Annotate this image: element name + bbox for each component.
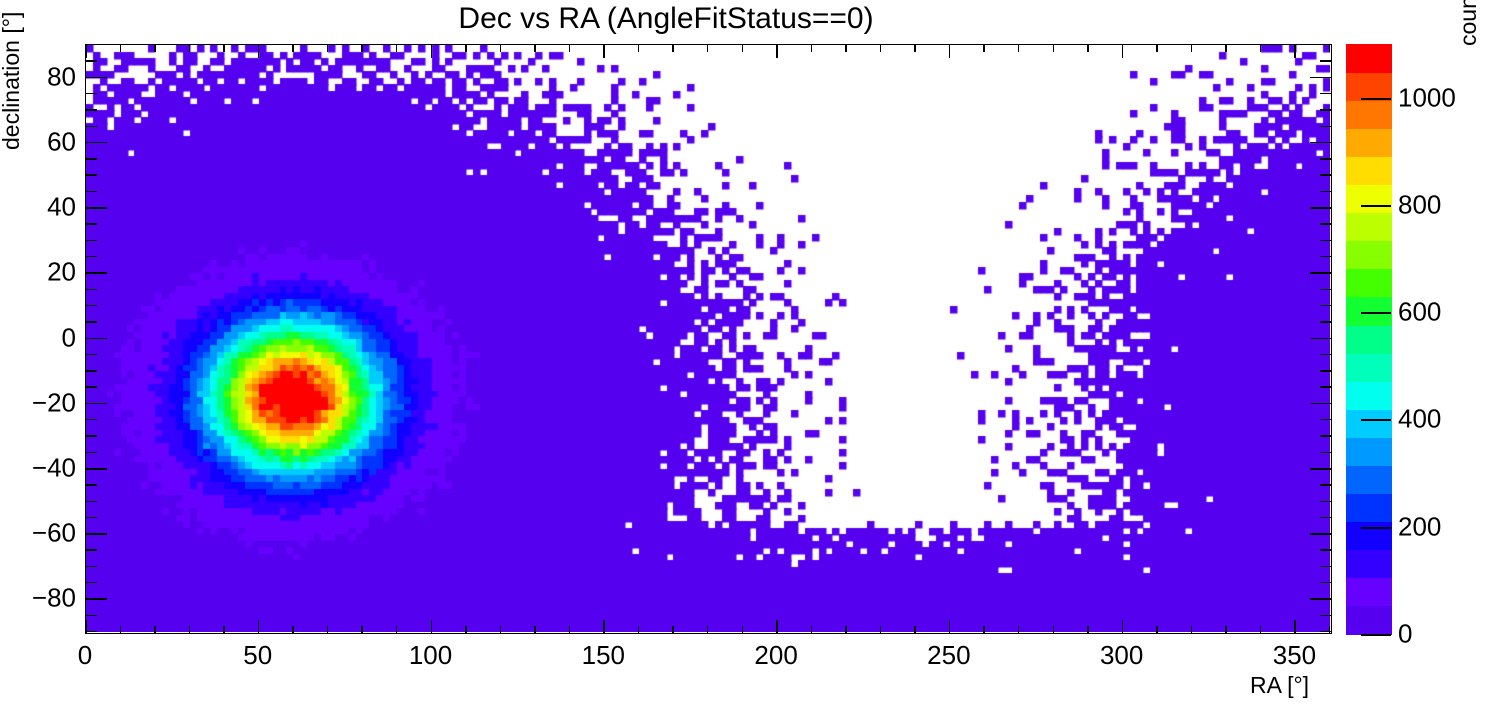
y-tick-major — [85, 77, 107, 79]
color-bar-title: count — [1455, 0, 1482, 46]
y-tick-label: 20 — [14, 257, 76, 288]
y-tick-minor — [1320, 126, 1332, 127]
color-bar-band — [1346, 213, 1392, 242]
x-tick-label: 150 — [582, 640, 625, 671]
y-tick-minor — [1320, 549, 1332, 550]
x-axis-title: RA [°] — [1250, 672, 1309, 699]
color-bar-band — [1346, 100, 1392, 129]
x-tick-minor — [500, 44, 501, 52]
y-tick-minor — [1320, 109, 1332, 110]
x-tick-minor — [189, 44, 190, 52]
color-bar-tick-label: 800 — [1398, 189, 1441, 220]
x-tick-minor — [1156, 626, 1157, 634]
x-tick-minor — [396, 44, 397, 52]
y-tick-minor — [1320, 631, 1332, 632]
y-tick-label: 60 — [14, 126, 76, 157]
x-tick-major — [1122, 620, 1124, 634]
x-tick-minor — [983, 626, 984, 634]
y-tick-major — [85, 338, 107, 340]
y-tick-minor — [85, 549, 97, 550]
y-tick-major — [1310, 598, 1332, 600]
y-tick-major — [1310, 338, 1332, 340]
y-tick-minor — [1320, 615, 1332, 616]
color-bar-band — [1346, 72, 1392, 101]
y-tick-minor — [85, 321, 97, 322]
y-tick-minor — [1320, 93, 1332, 94]
x-tick-minor — [1225, 44, 1226, 52]
x-tick-minor — [1018, 626, 1019, 634]
x-tick-minor — [707, 626, 708, 634]
color-bar-tick — [1361, 98, 1391, 100]
x-tick-minor — [1053, 44, 1054, 52]
x-tick-minor — [845, 626, 846, 634]
y-tick-major — [1310, 468, 1332, 470]
x-tick-minor — [189, 626, 190, 634]
x-tick-minor — [1087, 626, 1088, 634]
y-tick-minor — [85, 386, 97, 387]
page-title: Dec vs RA (AngleFitStatus==0) — [0, 2, 1332, 36]
root-canvas: Dec vs RA (AngleFitStatus==0) declinatio… — [0, 0, 1496, 722]
y-tick-minor — [85, 631, 97, 632]
y-tick-minor — [85, 435, 97, 436]
y-tick-minor — [85, 566, 97, 567]
y-tick-label: 0 — [14, 322, 76, 353]
x-tick-minor — [327, 44, 328, 52]
y-tick-minor — [85, 109, 97, 110]
x-tick-major — [776, 44, 778, 58]
color-bar-tick — [1361, 312, 1391, 314]
x-tick-minor — [500, 626, 501, 634]
x-tick-minor — [1156, 44, 1157, 52]
y-tick-label: −40 — [14, 452, 76, 483]
x-tick-major — [949, 44, 951, 58]
color-bar-tick-label: 400 — [1398, 404, 1441, 435]
x-tick-minor — [914, 44, 915, 52]
x-tick-label: 200 — [754, 640, 797, 671]
y-tick-minor — [85, 501, 97, 502]
x-tick-major — [431, 620, 433, 634]
x-tick-minor — [465, 626, 466, 634]
x-tick-minor — [707, 44, 708, 52]
y-tick-label: −20 — [14, 387, 76, 418]
x-tick-major — [776, 620, 778, 634]
x-tick-minor — [983, 44, 984, 52]
y-tick-label: −80 — [14, 583, 76, 614]
x-tick-major — [258, 44, 260, 58]
y-tick-minor — [1320, 582, 1332, 583]
y-tick-minor — [1320, 517, 1332, 518]
x-tick-minor — [672, 44, 673, 52]
color-bar-tick-label: 200 — [1398, 511, 1441, 542]
y-tick-minor — [1320, 354, 1332, 355]
color-bar-band — [1346, 184, 1392, 213]
color-bar-band — [1346, 550, 1392, 579]
x-tick-major — [603, 620, 605, 634]
x-tick-label: 100 — [409, 640, 452, 671]
y-tick-minor — [85, 305, 97, 306]
x-tick-minor — [1260, 626, 1261, 634]
color-bar-band — [1346, 269, 1392, 298]
x-tick-major — [85, 44, 87, 58]
x-tick-minor — [914, 626, 915, 634]
y-tick-minor — [1320, 566, 1332, 567]
x-tick-minor — [154, 626, 155, 634]
x-tick-minor — [1225, 626, 1226, 634]
y-tick-minor — [1320, 386, 1332, 387]
plot-frame — [85, 44, 1332, 634]
x-tick-label: 250 — [927, 640, 970, 671]
y-tick-minor — [1320, 484, 1332, 485]
x-tick-minor — [223, 44, 224, 52]
x-tick-label: 0 — [78, 640, 92, 671]
y-tick-major — [85, 142, 107, 144]
y-tick-major — [1310, 403, 1332, 405]
x-tick-minor — [292, 44, 293, 52]
x-tick-minor — [396, 626, 397, 634]
x-tick-minor — [361, 626, 362, 634]
y-tick-minor — [85, 517, 97, 518]
x-tick-label: 300 — [1100, 640, 1143, 671]
y-tick-minor — [1320, 60, 1332, 61]
x-tick-minor — [223, 626, 224, 634]
x-tick-minor — [811, 44, 812, 52]
x-tick-major — [431, 44, 433, 58]
y-tick-minor — [1320, 289, 1332, 290]
color-bar-tick — [1361, 419, 1391, 421]
y-tick-minor — [1320, 321, 1332, 322]
y-tick-minor — [85, 615, 97, 616]
color-bar-tick-label: 600 — [1398, 297, 1441, 328]
y-tick-minor — [1320, 158, 1332, 159]
x-tick-minor — [880, 44, 881, 52]
color-bar-gradient — [1346, 44, 1392, 634]
color-bar-band — [1346, 44, 1392, 73]
x-tick-minor — [742, 626, 743, 634]
y-tick-minor — [1320, 419, 1332, 420]
y-tick-major — [85, 533, 107, 535]
color-bar-band — [1346, 606, 1392, 635]
x-tick-minor — [120, 44, 121, 52]
x-tick-major — [949, 620, 951, 634]
y-tick-minor — [85, 93, 97, 94]
x-tick-minor — [1329, 626, 1330, 634]
y-tick-minor — [85, 60, 97, 61]
y-tick-minor — [85, 174, 97, 175]
y-tick-minor — [1320, 452, 1332, 453]
y-tick-major — [85, 272, 107, 274]
y-tick-major — [1310, 142, 1332, 144]
y-tick-minor — [85, 354, 97, 355]
x-tick-minor — [569, 626, 570, 634]
color-bar-tick-label: 1000 — [1398, 82, 1456, 113]
y-tick-major — [1310, 272, 1332, 274]
y-tick-minor — [85, 223, 97, 224]
x-tick-major — [1294, 44, 1296, 58]
color-bar-band — [1346, 381, 1392, 410]
x-tick-minor — [1191, 626, 1192, 634]
x-tick-minor — [534, 44, 535, 52]
y-tick-minor — [1320, 223, 1332, 224]
y-tick-minor — [85, 289, 97, 290]
x-tick-major — [258, 620, 260, 634]
y-tick-minor — [85, 191, 97, 192]
x-tick-label: 350 — [1273, 640, 1316, 671]
heatmap-surface — [86, 45, 1330, 632]
y-tick-minor — [1320, 256, 1332, 257]
color-bar-tick — [1361, 205, 1391, 207]
color-bar-band — [1346, 325, 1392, 354]
x-tick-minor — [845, 44, 846, 52]
y-tick-major — [85, 403, 107, 405]
color-bar-band — [1346, 353, 1392, 382]
color-bar-band — [1346, 494, 1392, 523]
x-tick-minor — [742, 44, 743, 52]
color-bar-band — [1346, 241, 1392, 270]
y-tick-major — [1310, 207, 1332, 209]
y-tick-major — [85, 598, 107, 600]
y-tick-minor — [1320, 370, 1332, 371]
x-tick-minor — [880, 626, 881, 634]
y-tick-minor — [85, 126, 97, 127]
x-tick-major — [603, 44, 605, 58]
y-tick-minor — [85, 158, 97, 159]
y-tick-major — [85, 468, 107, 470]
y-tick-minor — [85, 240, 97, 241]
y-tick-minor — [85, 256, 97, 257]
color-bar-band — [1346, 128, 1392, 157]
x-tick-minor — [672, 626, 673, 634]
x-tick-minor — [638, 626, 639, 634]
y-tick-minor — [1320, 240, 1332, 241]
x-tick-minor — [327, 626, 328, 634]
x-tick-minor — [292, 626, 293, 634]
x-tick-minor — [1260, 44, 1261, 52]
y-tick-label: 80 — [14, 61, 76, 92]
color-bar-tick-label: 0 — [1398, 619, 1412, 650]
color-bar-tick — [1361, 527, 1391, 529]
x-tick-minor — [638, 44, 639, 52]
y-tick-minor — [1320, 435, 1332, 436]
y-tick-minor — [85, 370, 97, 371]
y-tick-minor — [85, 484, 97, 485]
color-bar-band — [1346, 437, 1392, 466]
x-tick-minor — [569, 44, 570, 52]
x-tick-label: 50 — [243, 640, 272, 671]
y-tick-major — [1310, 533, 1332, 535]
color-bar-band — [1346, 156, 1392, 185]
x-tick-minor — [1329, 44, 1330, 52]
y-tick-label: 40 — [14, 192, 76, 223]
y-tick-major — [85, 207, 107, 209]
color-bar[interactable] — [1346, 44, 1392, 634]
x-tick-minor — [361, 44, 362, 52]
color-bar-band — [1346, 409, 1392, 438]
x-tick-minor — [1087, 44, 1088, 52]
x-tick-major — [1122, 44, 1124, 58]
y-tick-minor — [85, 419, 97, 420]
y-tick-minor — [1320, 191, 1332, 192]
x-tick-minor — [1191, 44, 1192, 52]
x-tick-minor — [534, 626, 535, 634]
y-tick-minor — [1320, 501, 1332, 502]
y-tick-minor — [85, 582, 97, 583]
color-bar-band — [1346, 578, 1392, 607]
x-tick-minor — [811, 626, 812, 634]
x-tick-minor — [1018, 44, 1019, 52]
x-tick-major — [1294, 620, 1296, 634]
y-tick-minor — [85, 452, 97, 453]
y-tick-minor — [1320, 305, 1332, 306]
y-tick-major — [1310, 77, 1332, 79]
y-tick-label: −60 — [14, 518, 76, 549]
x-tick-minor — [1053, 626, 1054, 634]
color-bar-tick — [1361, 634, 1391, 636]
x-tick-minor — [465, 44, 466, 52]
color-bar-band — [1346, 465, 1392, 494]
x-tick-minor — [154, 44, 155, 52]
y-tick-minor — [1320, 174, 1332, 175]
x-tick-minor — [120, 626, 121, 634]
